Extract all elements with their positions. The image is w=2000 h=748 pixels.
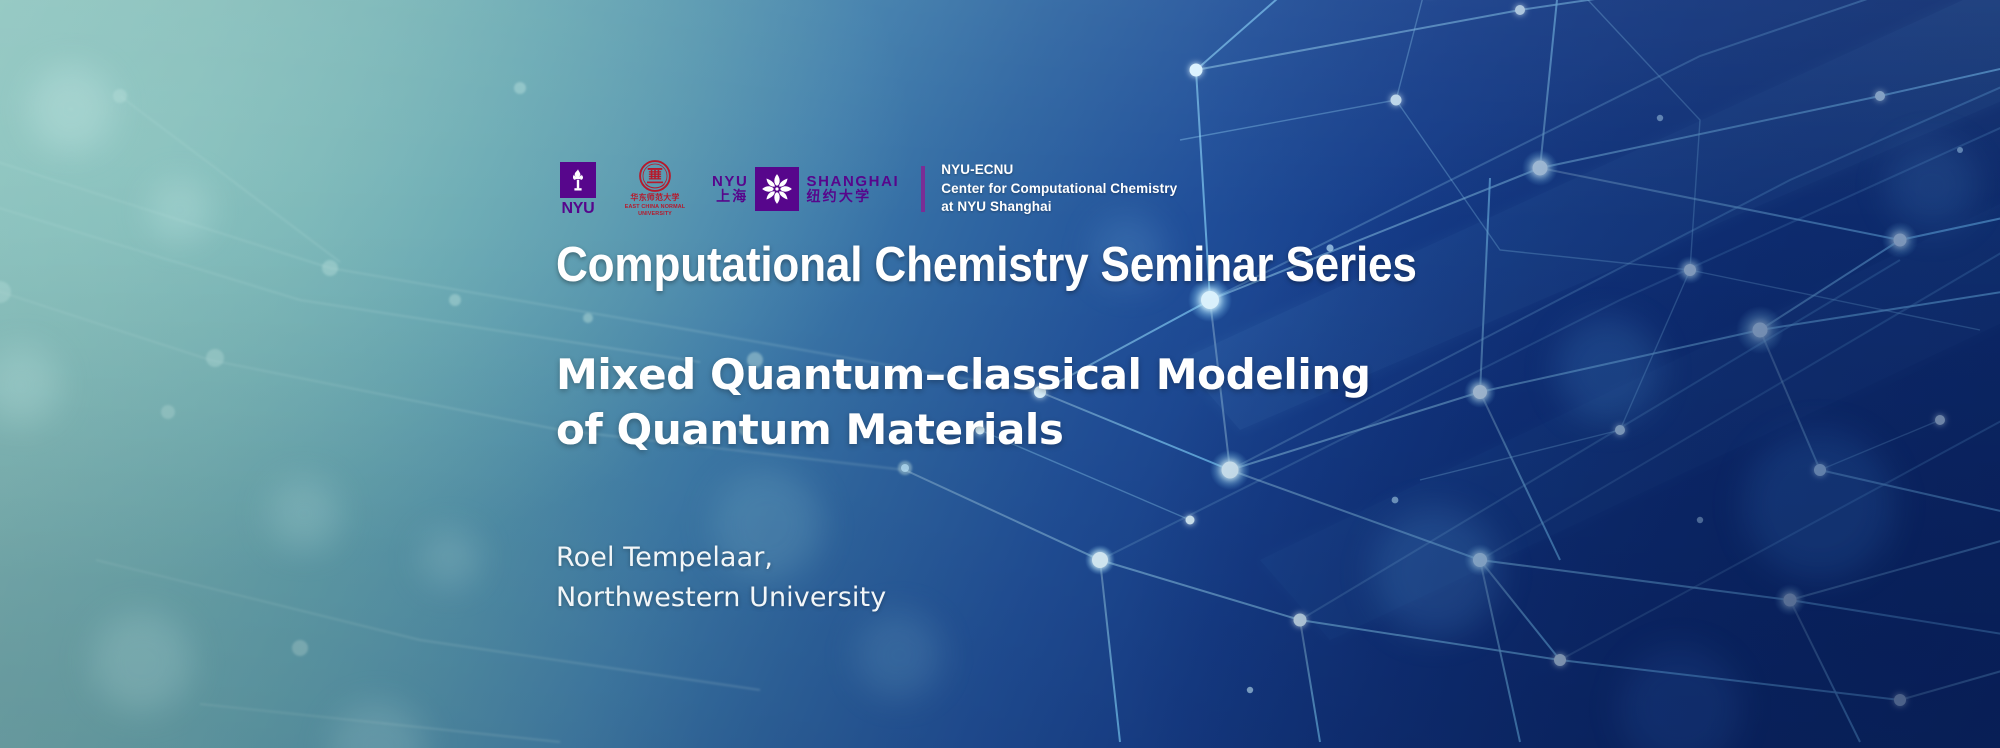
speaker-name: Roel Tempelaar,: [556, 538, 886, 578]
nyu-shanghai-left-text: NYU 上海: [712, 174, 748, 204]
speaker-block: Roel Tempelaar, Northwestern University: [556, 538, 886, 618]
nyu-shanghai-logo: NYU 上海: [712, 167, 899, 211]
speaker-affiliation: Northwestern University: [556, 578, 886, 618]
nyu-logo: NYU: [556, 162, 600, 217]
series-heading: Computational Chemistry Seminar Series: [556, 241, 1417, 290]
ecnu-seal-icon: [639, 160, 671, 192]
nyu-shanghai-right-text: SHANGHAI 纽约大学: [806, 174, 899, 204]
nyu-shanghai-university-cn: 纽约大学: [806, 190, 899, 205]
magnolia-flower-icon: [760, 172, 794, 206]
banner-content: NYU: [556, 0, 1756, 748]
talk-title: Mixed Quantum–classical Modeling of Quan…: [556, 348, 1371, 457]
center-name-line1: NYU-ECNU: [941, 161, 1177, 180]
center-name: NYU-ECNU Center for Computational Chemis…: [941, 161, 1177, 217]
nyu-shanghai-shanghai-cn: 上海: [712, 190, 748, 205]
ecnu-english-name-line1: EAST CHINA NORMAL: [625, 204, 685, 211]
ecnu-logo: 华东师范大学 EAST CHINA NORMAL UNIVERSITY: [618, 160, 692, 218]
talk-title-line2: of Quantum Materials: [556, 403, 1371, 458]
nyu-shanghai-shanghai-en: SHANGHAI: [806, 174, 899, 190]
nyu-torch-mark: [560, 162, 596, 198]
ecnu-english-name-line2: UNIVERSITY: [638, 211, 672, 218]
seminar-banner: NYU: [0, 0, 2000, 748]
magnolia-mark: [755, 167, 799, 211]
center-name-line3: at NYU Shanghai: [941, 198, 1177, 217]
talk-title-line1: Mixed Quantum–classical Modeling: [556, 348, 1371, 403]
nyu-shanghai-nyu-text: NYU: [712, 174, 748, 190]
ecnu-chinese-name: 华东师范大学: [630, 194, 679, 203]
torch-icon: [567, 168, 589, 192]
center-name-line2: Center for Computational Chemistry: [941, 180, 1177, 199]
nyu-wordmark: NYU: [562, 201, 595, 217]
logo-row: NYU: [556, 158, 1177, 220]
logo-divider: [921, 166, 925, 212]
